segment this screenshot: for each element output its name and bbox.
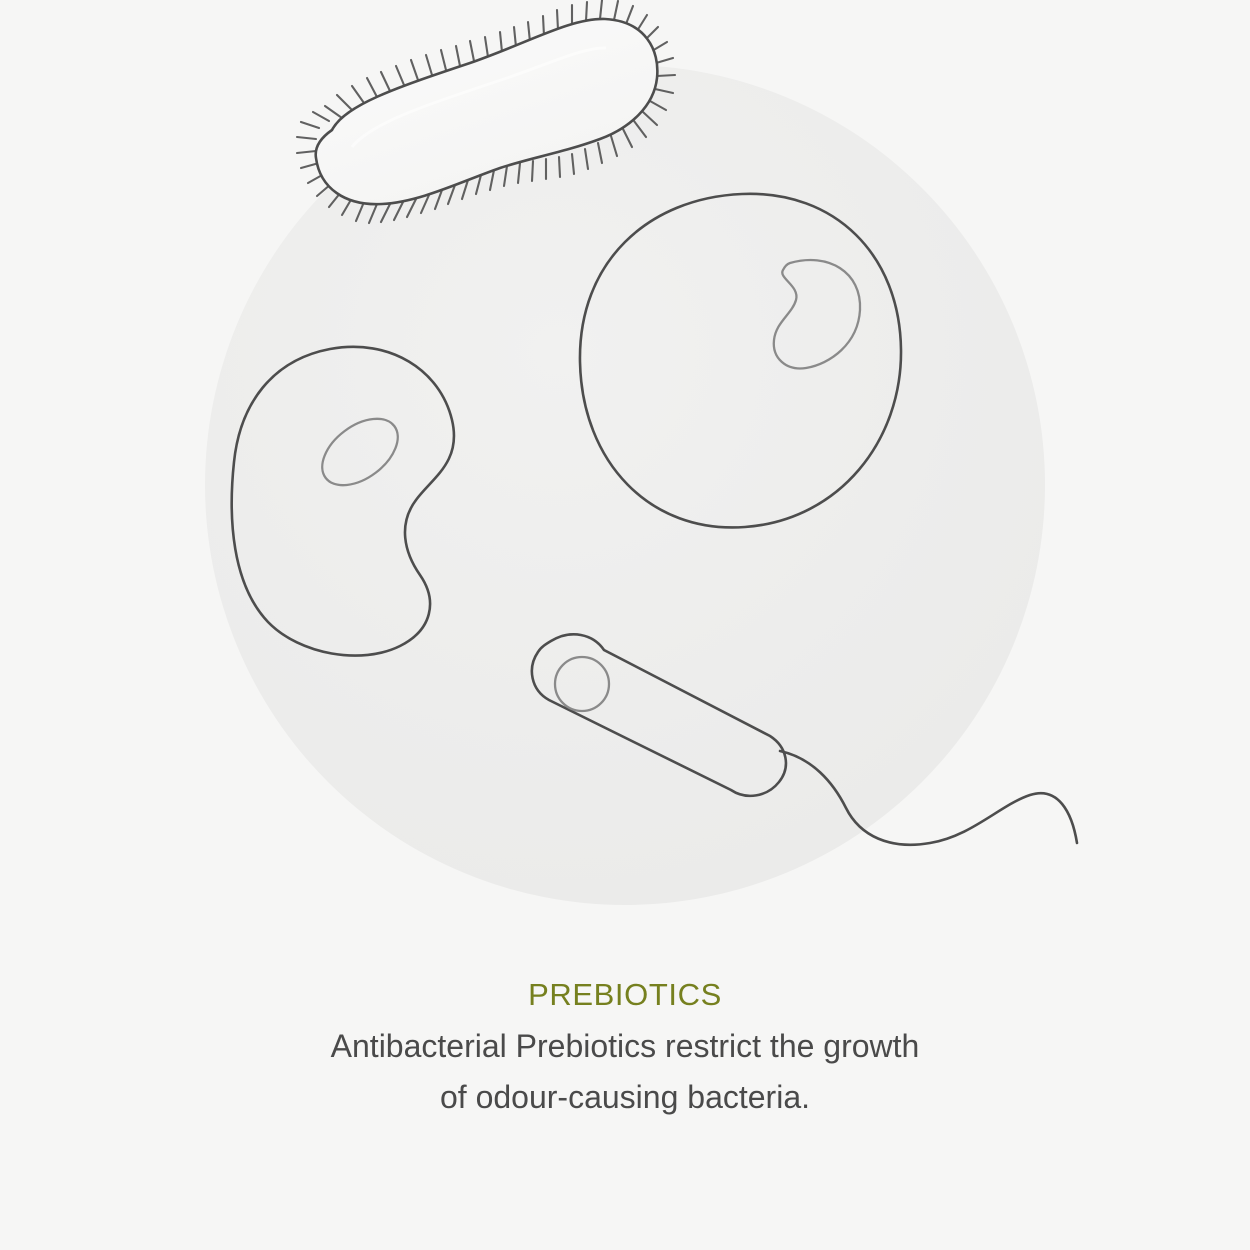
- caption-title: PREBIOTICS: [0, 975, 1250, 1015]
- backdrop-circle: [205, 65, 1045, 905]
- prebiotics-info-card: PREBIOTICS Antibacterial Prebiotics rest…: [0, 0, 1250, 1250]
- caption-body-line-2: of odour-causing bacteria.: [0, 1072, 1250, 1123]
- caption-body-line-1: Antibacterial Prebiotics restrict the gr…: [0, 1021, 1250, 1072]
- bacteria-illustration: [0, 0, 1250, 930]
- caption-body: Antibacterial Prebiotics restrict the gr…: [0, 1021, 1250, 1123]
- caption-block: PREBIOTICS Antibacterial Prebiotics rest…: [0, 975, 1250, 1123]
